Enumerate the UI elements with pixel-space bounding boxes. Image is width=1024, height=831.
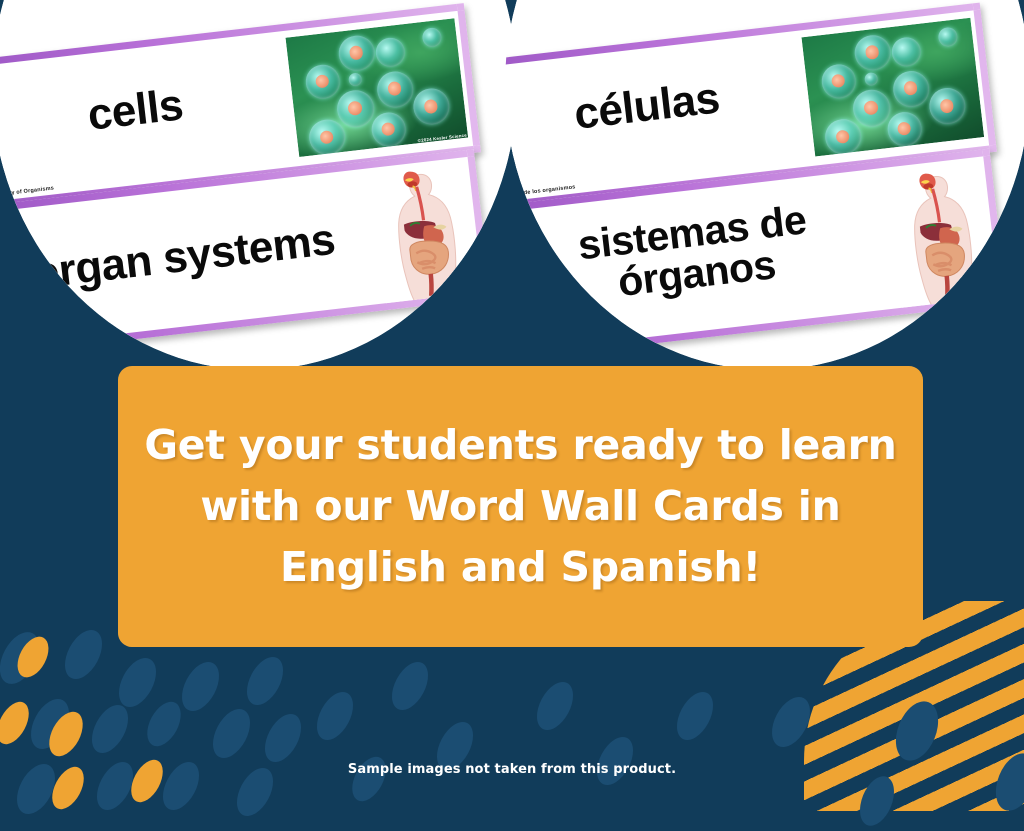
english-sample-circle: ©2024 Kesler Science cells Hierarchy of … — [0, 0, 517, 370]
cells-microscope-image — [801, 18, 984, 157]
word-card-footer: Hierarchy of Organisms — [0, 185, 54, 199]
word-card-label: células — [505, 67, 799, 145]
human-organ-systems-image — [886, 159, 998, 314]
promo-callout-box: Get your students ready to learn with ou… — [118, 366, 923, 647]
human-organ-systems-image — [370, 159, 481, 309]
cells-microscope-image: ©2024 Kesler Science — [285, 18, 468, 157]
promo-line-1: Get your students ready to learn — [118, 415, 923, 476]
word-card-label: cells — [0, 72, 283, 149]
word-card-label: organ systems — [0, 214, 373, 301]
word-card-label: sistemas de órganos — [505, 190, 896, 317]
promo-line-2: with our Word Wall Cards in — [118, 476, 923, 537]
promo-callout-text: Get your students ready to learn with ou… — [118, 415, 923, 597]
promo-line-3: English and Spanish! — [118, 537, 923, 598]
disclaimer-footnote: Sample images not taken from this produc… — [0, 762, 1024, 777]
spanish-sample-circle: células Jerarquía de los organismos — [505, 0, 1024, 370]
